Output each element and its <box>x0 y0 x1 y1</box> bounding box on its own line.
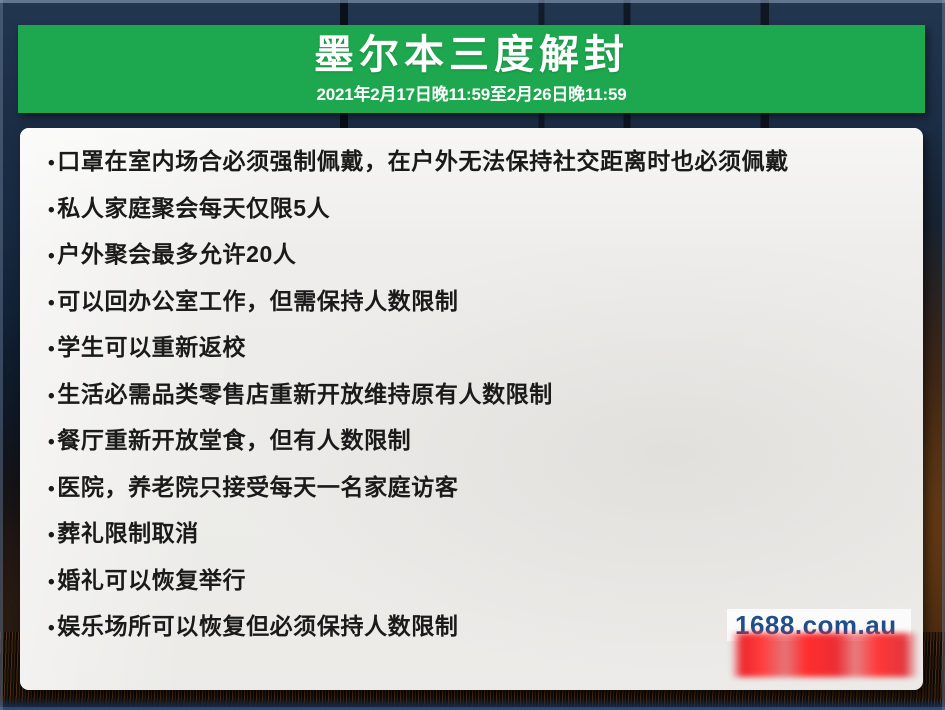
header-banner: 墨尔本三度解封 2021年2月17日晚11:59至2月26日晚11:59 <box>18 25 925 113</box>
watermark-red-banner <box>731 633 919 677</box>
list-item-label: 婚礼可以恢复举行 <box>57 561 246 595</box>
page-title: 墨尔本三度解封 <box>314 34 629 76</box>
list-item-label: 户外聚会最多允许20人 <box>57 235 296 269</box>
list-item: • 可以回办公室工作，但需保持人数限制 <box>20 282 923 329</box>
list-item-label: 娱乐场所可以恢复但必须保持人数限制 <box>57 607 458 641</box>
bullet-icon: • <box>48 387 55 406</box>
bullet-icon: • <box>48 573 55 592</box>
list-item-label: 餐厅重新开放堂食，但有人数限制 <box>57 421 411 455</box>
list-item: • 学生可以重新返校 <box>20 328 923 375</box>
bullet-icon: • <box>48 526 55 545</box>
list-item: • 葬礼限制取消 <box>20 514 923 561</box>
list-item-label: 口罩在室内场合必须强制佩戴，在户外无法保持社交距离时也必须佩戴 <box>57 142 789 176</box>
list-item: • 餐厅重新开放堂食，但有人数限制 <box>20 421 923 468</box>
list-item: • 私人家庭聚会每天仅限5人 <box>20 189 923 236</box>
bullet-icon: • <box>48 247 55 266</box>
list-item-label: 葬礼限制取消 <box>57 514 199 548</box>
rules-card: • 口罩在室内场合必须强制佩戴，在户外无法保持社交距离时也必须佩戴 • 私人家庭… <box>20 128 923 690</box>
bullet-icon: • <box>48 619 55 638</box>
list-item-label: 生活必需品类零售店重新开放维持原有人数限制 <box>57 375 553 409</box>
list-item-label: 学生可以重新返校 <box>57 328 246 362</box>
list-item-label: 可以回办公室工作，但需保持人数限制 <box>57 282 458 316</box>
list-item: • 口罩在室内场合必须强制佩戴，在户外无法保持社交距离时也必须佩戴 <box>20 142 923 189</box>
bullet-icon: • <box>48 433 55 452</box>
list-item: • 医院，养老院只接受每天一名家庭访客 <box>20 468 923 515</box>
rules-list: • 口罩在室内场合必须强制佩戴，在户外无法保持社交距离时也必须佩戴 • 私人家庭… <box>20 142 923 654</box>
list-item-label: 私人家庭聚会每天仅限5人 <box>57 189 330 223</box>
list-item: • 户外聚会最多允许20人 <box>20 235 923 282</box>
list-item: • 婚礼可以恢复举行 <box>20 561 923 608</box>
list-item: • 生活必需品类零售店重新开放维持原有人数限制 <box>20 375 923 422</box>
bullet-icon: • <box>48 340 55 359</box>
background-bottom-edge <box>0 698 945 710</box>
bullet-icon: • <box>48 154 55 173</box>
poster-image: 墨尔本三度解封 2021年2月17日晚11:59至2月26日晚11:59 • 口… <box>0 0 945 710</box>
bullet-icon: • <box>48 294 55 313</box>
header-date-range: 2021年2月17日晚11:59至2月26日晚11:59 <box>316 80 626 105</box>
bullet-icon: • <box>48 201 55 220</box>
list-item-label: 医院，养老院只接受每天一名家庭访客 <box>57 468 458 502</box>
bullet-icon: • <box>48 480 55 499</box>
